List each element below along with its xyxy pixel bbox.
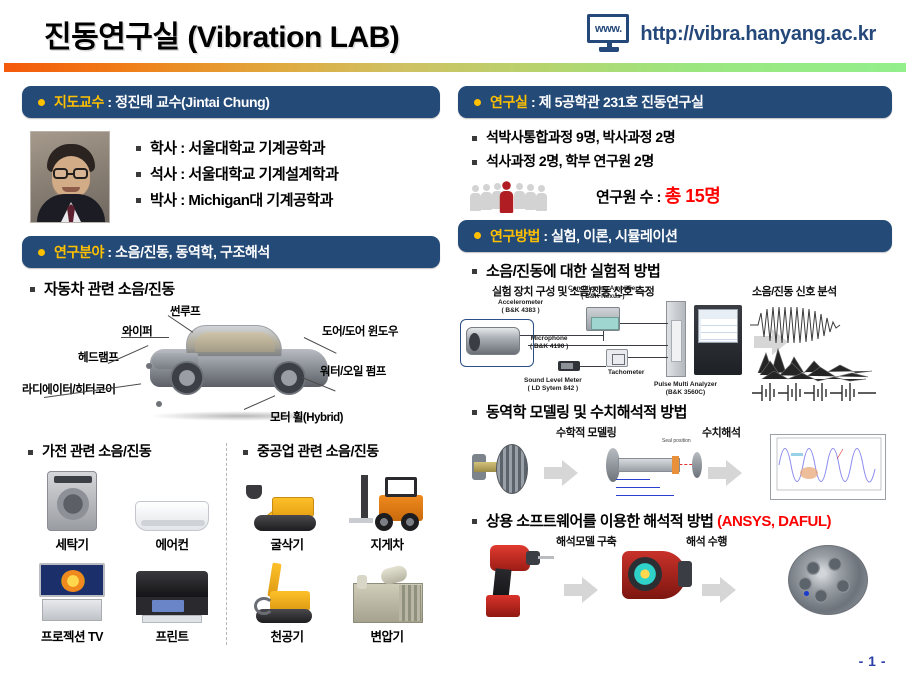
method-experimental-heading: 소음/진동에 대한 실험적 방법 [458,262,892,281]
square-bullet-icon [136,198,141,203]
method-dynamics-heading: 동역학 모델링 및 수치해석적 방법 [458,403,892,422]
page-title: 진동연구실 (Vibration LAB) [44,12,399,56]
appliance-section: 가전 관련 소음/진동 세탁기 에어컨 프로젝션 TV [22,443,225,645]
conditioning-amplifier-icon [586,307,620,331]
product-item-drilling-rig: 천공기 [237,557,337,645]
square-bullet-icon [472,410,477,415]
list-item: 학사 : 서울대학교 기계공학과 [136,139,338,158]
method-banner-text: : 실험, 이론, 시뮬레이션 [540,228,678,244]
label-seal-position: Seal position [662,438,691,444]
vertical-divider [226,443,227,645]
method-software-tools: (ANSYS, DAFUL) [717,513,831,530]
product-item-air-conditioner: 에어컨 [122,465,222,553]
product-item-washing-machine: 세탁기 [22,465,122,553]
sound-level-meter-icon [558,361,580,371]
slide-header: 진동연구실 (Vibration LAB) www. http://vibra.… [0,0,910,70]
pulley-assembly-icon [472,442,528,496]
drilling-rig-icon [248,561,326,623]
method-banner: 연구방법 : 실험, 이론, 시뮬레이션 [458,220,892,252]
square-bullet-icon [136,172,141,177]
fem-model-icon [782,539,874,619]
product-item-forklift: 지게차 [337,465,437,553]
member-count-value: 총 15명 [665,186,721,206]
numerical-result-plot [770,434,886,500]
signal-analysis-plots [748,301,886,401]
square-bullet-icon [472,269,477,274]
sine-plot-svg [771,435,885,499]
process-arrow-icon [708,460,742,486]
automotive-heading: 자동차 관련 소음/진동 [22,280,440,299]
software-diagram: 해석모델 구축 해석 수행 [458,533,892,625]
square-bullet-icon [243,450,248,455]
projection-tv-icon [39,563,105,623]
appliance-heading: 가전 관련 소음/진동 [22,443,225,461]
advisor-degree-list: 학사 : 서울대학교 기계공학과 석사 : 서울대학교 기계설계학과 박사 : … [110,131,338,223]
member-count: 연구원 수 : 총 15명 [596,182,720,208]
list-item: 석박사통합과정 9명, 박사과정 2명 [472,129,892,147]
square-bullet-icon [472,136,477,141]
bullet-dot-icon [474,99,481,106]
test-specimen-icon [466,327,520,355]
square-bullet-icon [472,160,477,165]
forklift-icon [347,471,427,531]
member-count-label: 연구원 수 : [596,189,665,206]
www-badge-label: www. [595,23,622,35]
air-conditioner-icon [135,501,209,531]
car-label-headlamp: 헤드램프 [78,349,118,365]
label-sound-level-meter: Sound Level Meter( LD Sytem 842 ) [524,377,582,393]
url-text[interactable]: http://vibra.hanyang.ac.kr [640,23,876,46]
square-bullet-icon [28,450,33,455]
method-software-heading: 상용 소프트웨어를 이용한 해석적 방법 (ANSYS, DAFUL) [458,512,892,531]
method-software: 상용 소프트웨어를 이용한 해석적 방법 (ANSYS, DAFUL) 해석모델… [458,512,892,625]
shaft-model-icon: Seal position [606,438,702,498]
drill-motor-cutaway-icon [616,539,692,617]
advisor-banner-keyword: 지도교수 [54,94,104,110]
car-label-pump: 워터/오일 펌프 [320,363,386,379]
process-arrow-icon [544,460,578,486]
research-field-keyword: 연구분야 [54,244,104,260]
right-column: 연구실 : 제 5공학관 231호 진동연구실 석박사통합과정 9명, 박사과정… [458,86,892,625]
heavy-industry-section: 중공업 관련 소음/진동 굴삭기 지게차 천공기 [237,443,440,645]
member-count-row: 연구원 수 : 총 15명 [458,177,892,213]
caption-analysis: 소음/진동 신호 분석 [752,283,837,299]
square-bullet-icon [472,519,477,524]
lab-member-list: 석박사통합과정 9명, 박사과정 2명 석사과정 2명, 학부 연구원 2명 [458,129,892,171]
bullet-dot-icon [38,249,45,256]
method-dynamics: 동역학 모델링 및 수치해석적 방법 수학적 모델링 수치해석 Seal pos… [458,403,892,510]
advisor-banner-text: : 정진태 교수(Jintai Chung) [104,94,270,110]
car-label-motor-wheel: 모터 휠(Hybrid) [270,409,343,425]
page-number: - 1 - [859,653,886,669]
caption-model-build: 해석모델 구축 [556,533,616,549]
method-banner-keyword: 연구방법 [490,228,540,244]
advisor-profile: 학사 : 서울대학교 기계공학과 석사 : 서울대학교 기계설계학과 박사 : … [22,131,440,223]
excavator-icon [244,469,330,531]
power-drill-icon [480,539,546,619]
lab-banner-keyword: 연구실 [490,94,527,110]
car-label-door: 도어/도어 윈도우 [322,323,398,339]
method-software-heading-text: 상용 소프트웨어를 이용한 해석적 방법 [486,513,713,530]
product-item-projection-tv: 프로젝션 TV [22,557,122,645]
product-grid: 가전 관련 소음/진동 세탁기 에어컨 프로젝션 TV [22,443,440,645]
tachometer-icon [606,349,628,367]
analyzer-pc-icon [694,305,742,375]
list-item: 석사 : 서울대학교 기계설계학과 [136,165,338,184]
lab-banner: 연구실 : 제 5공학관 231호 진동연구실 [458,86,892,118]
label-conditioning-amplifier: Conditioning Amplifier( B&K Nexus ) [568,285,638,301]
bullet-dot-icon [38,99,45,106]
transformer-icon [347,567,427,623]
car-illustration [144,323,334,397]
heavy-industry-heading: 중공업 관련 소음/진동 [237,443,440,461]
washing-machine-icon [47,471,97,531]
product-item-transformer: 변압기 [337,557,437,645]
research-field-banner: 연구분야 : 소음/진동, 동역학, 구조해석 [22,236,440,268]
label-pulse-multi-analyzer: Pulse Multi Analyzer(B&K 3560C) [654,381,717,397]
caption-run-analysis: 해석 수행 [686,533,727,549]
signal-plot-svg [748,301,886,401]
square-bullet-icon [30,287,35,292]
product-item-printer: 프린트 [122,557,222,645]
website-link[interactable]: www. http://vibra.hanyang.ac.kr [587,14,876,54]
product-item-excavator: 굴삭기 [237,465,337,553]
experiment-setup-diagram: 실험 장치 구성 및 소음/진동 신호 측정 소음/진동 신호 분석 Accel… [458,283,892,401]
list-item: 박사 : Michigan대 기계공학과 [136,191,338,210]
process-arrow-icon [702,577,736,603]
caption-numerical-analysis: 수치해석 [702,424,740,440]
method-experimental: 소음/진동에 대한 실험적 방법 실험 장치 구성 및 소음/진동 신호 측정 … [458,262,892,401]
list-item: 석사과정 2명, 학부 연구원 2명 [472,153,892,171]
label-microphone: Microphone( B&K 4190 ) [530,335,568,351]
people-group-icon [470,177,544,213]
dynamics-diagram: 수학적 모델링 수치해석 Seal position [458,424,892,510]
bullet-dot-icon [474,232,481,239]
research-field-text: : 소음/진동, 동역학, 구조해석 [104,244,270,260]
printer-icon [136,571,208,623]
www-monitor-icon: www. [587,14,631,54]
advisor-photo [30,131,110,223]
gradient-divider [4,63,906,72]
square-bullet-icon [136,146,141,151]
left-column: 지도교수 : 정진태 교수(Jintai Chung) 학사 : 서울대학교 기… [22,86,440,645]
lab-banner-text: : 제 5공학관 231호 진동연구실 [527,94,703,110]
car-label-sunroof: 썬루프 [170,303,200,319]
advisor-banner: 지도교수 : 정진태 교수(Jintai Chung) [22,86,440,118]
car-diagram: 썬루프 와이퍼 헤드램프 라디에이터/히터코어 도어/도어 윈도우 워터/오일 … [22,301,440,437]
pulse-analyzer-icon [666,301,686,377]
process-arrow-icon [564,577,598,603]
label-accelerometer: Accelerometer( B&K 4383 ) [498,299,543,315]
label-tachometer: Tachometer [608,369,644,377]
